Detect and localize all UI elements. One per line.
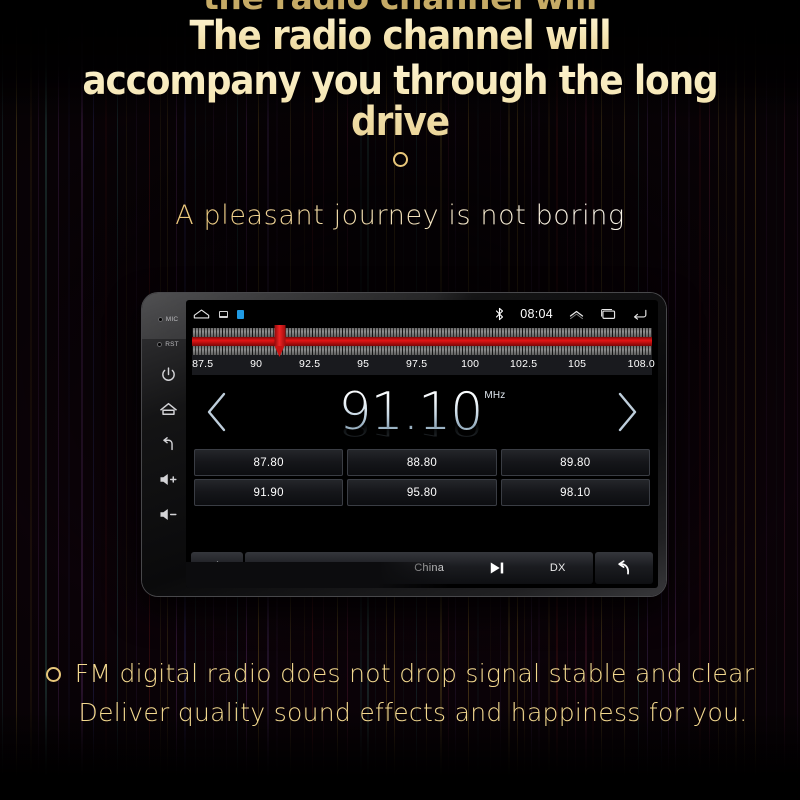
tuner-tick xyxy=(234,328,235,337)
tuner-tick xyxy=(519,346,520,355)
bottom-copy-row-1: FM digital radio does not drop signal st… xyxy=(0,655,800,694)
tuner-scale-label: 108.0 xyxy=(628,358,655,370)
tuner-tick xyxy=(420,328,421,337)
tuner-tick xyxy=(450,346,451,355)
tuner-tick xyxy=(456,328,457,337)
tuner-tick xyxy=(318,346,319,355)
tuner-tick xyxy=(330,346,331,355)
tuner-tick xyxy=(624,328,625,337)
tuner-tick xyxy=(261,328,262,337)
tuner-tick xyxy=(489,328,490,337)
tuner-tick xyxy=(570,328,571,337)
home-button[interactable] xyxy=(150,392,186,427)
screen-bottom-toolbar: Search China DX xyxy=(186,552,658,588)
tuner-tick xyxy=(543,346,544,355)
tuner-tick xyxy=(585,328,586,337)
tuner-tick xyxy=(534,346,535,355)
next-station-button[interactable] xyxy=(489,561,505,575)
toolbar-center-group: Search China DX xyxy=(245,552,593,584)
tuner-tick xyxy=(414,346,415,355)
tuner-tick xyxy=(234,346,235,355)
tuner-tick xyxy=(390,328,391,337)
tuner-tick xyxy=(225,346,226,355)
tuner-tick xyxy=(432,328,433,337)
tuner-tick xyxy=(552,328,553,337)
tuner-tick xyxy=(441,328,442,337)
tuner-tick xyxy=(363,328,364,337)
tuner-tick xyxy=(207,346,208,355)
tuner-tick xyxy=(327,346,328,355)
tuner-tick xyxy=(534,328,535,337)
tuner-tick xyxy=(627,346,628,355)
tuner-tick xyxy=(438,328,439,337)
tuner-tick xyxy=(528,346,529,355)
tuner-tick xyxy=(345,328,346,337)
preset-button[interactable]: 91.90 xyxy=(194,479,343,506)
prev-station-button[interactable] xyxy=(353,561,369,575)
tuner-tick xyxy=(249,328,250,337)
tuner-tick xyxy=(555,328,556,337)
circle-outline-icon xyxy=(393,152,408,167)
tuner-tick xyxy=(417,346,418,355)
tuner-tick xyxy=(453,328,454,337)
tuner-tick xyxy=(267,346,268,355)
subtitle-text: A pleasant journey is not boring xyxy=(0,200,800,231)
tuner-tick xyxy=(372,328,373,337)
tuner-tick xyxy=(324,328,325,337)
tuner-tick xyxy=(498,346,499,355)
tuner-tick xyxy=(645,346,646,355)
tuner-scale-label: 95 xyxy=(357,358,369,370)
tuner-tick xyxy=(300,328,301,337)
tuner-tick xyxy=(480,346,481,355)
tuner-tick xyxy=(474,346,475,355)
tuner-tick xyxy=(624,346,625,355)
tuner-tick xyxy=(480,328,481,337)
tuner-tick xyxy=(495,346,496,355)
needle-bar xyxy=(274,325,285,346)
tuner-tick xyxy=(213,346,214,355)
tuner-tick xyxy=(228,328,229,337)
tuner-tick xyxy=(651,328,652,337)
tuner-scale-labels: 87.59092.59597.5100102.5105108.0 xyxy=(192,355,652,375)
tuner-tick xyxy=(378,346,379,355)
tuner-tick xyxy=(564,346,565,355)
tuner-tick xyxy=(384,328,385,337)
back-arrow-icon xyxy=(160,436,177,453)
skip-previous-icon xyxy=(353,561,369,575)
tuner-tick xyxy=(396,346,397,355)
tuner-tick xyxy=(549,346,550,355)
tuner-tick xyxy=(558,328,559,337)
tuner-tick xyxy=(195,346,196,355)
tuner-tick xyxy=(255,328,256,337)
toolbar-return-button[interactable] xyxy=(595,552,653,584)
tuner-tick xyxy=(468,346,469,355)
tuner-tick xyxy=(333,328,334,337)
preset-button[interactable]: 88.80 xyxy=(347,449,496,476)
tuner-scale-label: 90 xyxy=(250,358,262,370)
tuner-tick xyxy=(396,328,397,337)
tuner-tick xyxy=(465,328,466,337)
tuner-tick xyxy=(633,346,634,355)
tuner-tick xyxy=(429,346,430,355)
home-outline-icon[interactable] xyxy=(193,308,210,320)
back-arrow-icon[interactable] xyxy=(632,308,648,320)
tuner-tick xyxy=(588,328,589,337)
tuner-tick xyxy=(204,328,205,337)
power-icon xyxy=(160,366,177,383)
tuner-tick xyxy=(447,328,448,337)
tuner-tick xyxy=(216,346,217,355)
tuner-tick xyxy=(570,346,571,355)
tuner-tick xyxy=(354,328,355,337)
tuner-tick xyxy=(375,346,376,355)
tuner-tick xyxy=(369,328,370,337)
tuner-tick xyxy=(507,328,508,337)
tuner-tick xyxy=(486,328,487,337)
tuner-tick xyxy=(426,346,427,355)
tuner-tick xyxy=(411,346,412,355)
tuner-scale-label: 92.5 xyxy=(299,358,320,370)
tuner-tick xyxy=(447,346,448,355)
tuner-tick xyxy=(321,328,322,337)
tuner-tick xyxy=(336,328,337,337)
tuner-tick xyxy=(450,328,451,337)
tuner-tick xyxy=(291,328,292,337)
tuner-tick xyxy=(648,328,649,337)
tuner-tick xyxy=(537,328,538,337)
tuner-tick xyxy=(246,328,247,337)
tuner-tick xyxy=(231,346,232,355)
headline-line-2: accompany you through the long drive xyxy=(40,61,760,143)
tuner-tick xyxy=(594,328,595,337)
tuner-tick xyxy=(375,328,376,337)
region-button[interactable]: China xyxy=(414,562,444,574)
home-filled-icon xyxy=(209,560,226,576)
tuner-tick xyxy=(204,346,205,355)
power-button[interactable] xyxy=(150,357,186,392)
tuner-tick xyxy=(582,346,583,355)
tuner-tick xyxy=(636,346,637,355)
tuner-tick xyxy=(435,346,436,355)
device-left-bezel: MIC RST xyxy=(150,300,186,588)
bluetooth-icon xyxy=(495,307,504,321)
android-status-bar: 08:04 xyxy=(186,300,658,328)
tuner-tick xyxy=(507,346,508,355)
tuner-tick xyxy=(471,346,472,355)
tuner-tick xyxy=(393,346,394,355)
tuner-scale-label: 102.5 xyxy=(510,358,537,370)
tuner-tick xyxy=(252,346,253,355)
tuner-red-band xyxy=(192,337,652,346)
tuner-tick xyxy=(615,328,616,337)
mic-indicator: MIC xyxy=(150,307,186,332)
preset-button[interactable]: 89.80 xyxy=(501,449,650,476)
tuner-tick xyxy=(492,328,493,337)
tuner-tick xyxy=(612,328,613,337)
tuner-tick xyxy=(564,328,565,337)
home-icon xyxy=(159,401,178,418)
tuner-tick xyxy=(288,346,289,355)
tuner-tick xyxy=(201,328,202,337)
tuner-tick xyxy=(408,328,409,337)
preset-grid: 87.8088.8089.8091.9095.8098.10 xyxy=(186,449,658,506)
tuner-tick xyxy=(537,346,538,355)
tuner-tick xyxy=(504,346,505,355)
tuner-tick xyxy=(600,346,601,355)
tuner-tick xyxy=(648,346,649,355)
tuner-tick xyxy=(612,346,613,355)
tuner-tick xyxy=(531,346,532,355)
tuner-tick xyxy=(483,346,484,355)
tuner-tick xyxy=(327,328,328,337)
preset-button[interactable]: 87.80 xyxy=(194,449,343,476)
tuner-tick xyxy=(318,328,319,337)
reset-hole-icon[interactable] xyxy=(157,342,162,347)
tuner-tick xyxy=(246,346,247,355)
tuner-tick xyxy=(462,346,463,355)
tuner-ticks-bottom xyxy=(192,346,652,355)
skip-next-icon xyxy=(489,561,505,575)
tuner-tick xyxy=(192,346,193,355)
tuner-tick xyxy=(360,328,361,337)
tuner-tick xyxy=(525,328,526,337)
tuner-tick xyxy=(651,346,652,355)
tuner-tick xyxy=(459,328,460,337)
tuner-tick xyxy=(225,328,226,337)
tuner-tick xyxy=(294,328,295,337)
page-headline: The radio channel will accompany you thr… xyxy=(0,16,800,142)
tuner-tick xyxy=(351,328,352,337)
tuner-tick xyxy=(444,328,445,337)
reset-indicator[interactable]: RST xyxy=(150,332,186,357)
tuner-tick xyxy=(435,328,436,337)
tuner-tick xyxy=(345,346,346,355)
tuner-tick xyxy=(417,328,418,337)
tuner-tick xyxy=(492,346,493,355)
tuner-tick xyxy=(405,346,406,355)
blue-app-icon[interactable] xyxy=(237,310,244,319)
tuner-tick xyxy=(399,346,400,355)
tuner-ticks-top xyxy=(192,328,652,337)
tuner-tick xyxy=(270,328,271,337)
volume-up-icon xyxy=(159,472,178,487)
tuner-tick xyxy=(540,328,541,337)
tuner-tick xyxy=(216,328,217,337)
tuner-tick xyxy=(324,346,325,355)
tuner-tick xyxy=(399,328,400,337)
volume-down-button[interactable] xyxy=(150,497,186,532)
preset-label: 91.90 xyxy=(254,487,284,499)
tuner-tick xyxy=(477,328,478,337)
chevron-right-icon[interactable] xyxy=(612,389,642,435)
tuner-tick xyxy=(303,346,304,355)
device-screen[interactable]: 08:04 87.59092.59597.5100102.5 xyxy=(186,300,658,588)
tuner-tick xyxy=(501,328,502,337)
tuner-tick xyxy=(531,328,532,337)
tuner-tick xyxy=(639,328,640,337)
tuner-tick xyxy=(357,328,358,337)
tuner-tick xyxy=(255,346,256,355)
back-button[interactable] xyxy=(150,427,186,462)
circle-outline-icon xyxy=(46,667,61,682)
tuner-tick xyxy=(618,328,619,337)
tuner-tick xyxy=(336,346,337,355)
tuner-tick xyxy=(414,328,415,337)
tuner-tick xyxy=(444,346,445,355)
tuner-tick xyxy=(555,346,556,355)
tuner-tick xyxy=(453,346,454,355)
tuner-tick xyxy=(441,346,442,355)
status-bar-left xyxy=(193,308,244,320)
tuner-tick xyxy=(549,328,550,337)
tuner-tick xyxy=(243,346,244,355)
bottom-copy-line-2: Deliver quality sound effects and happin… xyxy=(0,694,800,733)
preset-button[interactable]: 98.10 xyxy=(501,479,650,506)
tuner-tick xyxy=(270,346,271,355)
tuner-tick xyxy=(582,328,583,337)
tuner-tick xyxy=(636,328,637,337)
tuner-tick xyxy=(192,328,193,337)
tuner-tick xyxy=(393,328,394,337)
tuner-needle[interactable] xyxy=(274,325,285,358)
tuner-tick xyxy=(567,346,568,355)
tuner-tick xyxy=(309,328,310,337)
tuner-tick xyxy=(558,346,559,355)
tuner-tick xyxy=(339,328,340,337)
toolbar-home-button[interactable] xyxy=(191,552,243,584)
tuner-tick xyxy=(573,328,574,337)
tuner-tick xyxy=(495,328,496,337)
recent-apps-icon[interactable] xyxy=(600,308,616,320)
tuner-tick xyxy=(420,346,421,355)
mic-label: MIC xyxy=(166,316,179,323)
tuner-tick xyxy=(516,328,517,337)
tuner-scale-label: 105 xyxy=(568,358,586,370)
tuner-tick xyxy=(471,328,472,337)
tuner-tick xyxy=(228,346,229,355)
tuner-tick xyxy=(312,328,313,337)
mini-screen-icon[interactable] xyxy=(219,311,228,318)
tuner-tick xyxy=(609,346,610,355)
tuner-tick xyxy=(594,346,595,355)
tuner-tick xyxy=(360,346,361,355)
tuner-tick xyxy=(315,346,316,355)
tuner-tick xyxy=(294,346,295,355)
headline-line-1: The radio channel will xyxy=(40,16,760,57)
dx-button[interactable]: DX xyxy=(550,562,566,574)
tuner-tick xyxy=(321,346,322,355)
tuner-tick xyxy=(243,328,244,337)
tuner-tick xyxy=(597,346,598,355)
tuner-tick xyxy=(306,346,307,355)
tuner-tick xyxy=(330,328,331,337)
tuner-tick xyxy=(561,346,562,355)
tuner-tick xyxy=(621,328,622,337)
tuner-tick xyxy=(315,328,316,337)
tuner-tick xyxy=(198,346,199,355)
tuner-tick xyxy=(210,346,211,355)
fm-tuning-scale[interactable]: 87.59092.59597.5100102.5105108.0 xyxy=(192,328,652,375)
tuner-tick xyxy=(402,328,403,337)
tuner-tick xyxy=(258,328,259,337)
tuner-tick xyxy=(312,346,313,355)
tuner-tick xyxy=(207,328,208,337)
tuner-scale-label: 97.5 xyxy=(406,358,427,370)
preset-button[interactable]: 95.80 xyxy=(347,479,496,506)
tuner-tick xyxy=(213,328,214,337)
preset-label: 98.10 xyxy=(560,487,590,499)
tuner-tick xyxy=(387,346,388,355)
volume-up-button[interactable] xyxy=(150,462,186,497)
tuner-tick xyxy=(381,346,382,355)
tuner-tick xyxy=(390,346,391,355)
tuner-tick xyxy=(252,328,253,337)
tuner-tick xyxy=(618,346,619,355)
tuner-tick xyxy=(372,346,373,355)
tuner-tick xyxy=(342,328,343,337)
tuner-tick xyxy=(303,328,304,337)
preset-label: 95.80 xyxy=(407,487,437,499)
tuner-tick xyxy=(489,346,490,355)
chevron-left-icon[interactable] xyxy=(202,389,232,435)
tuner-tick xyxy=(411,328,412,337)
tuner-tick xyxy=(249,346,250,355)
tuner-tick xyxy=(423,346,424,355)
tuner-tick xyxy=(354,346,355,355)
tuner-tick xyxy=(573,346,574,355)
tuner-tick xyxy=(219,346,220,355)
tuner-tick xyxy=(546,328,547,337)
chevron-up-icon[interactable] xyxy=(569,309,584,320)
tuner-tick xyxy=(579,346,580,355)
tuner-tick xyxy=(498,328,499,337)
tuner-tick xyxy=(615,346,616,355)
tuner-tick xyxy=(267,328,268,337)
tuner-tick xyxy=(306,328,307,337)
tuner-tick xyxy=(366,328,367,337)
tuner-tick xyxy=(258,346,259,355)
car-stereo-device: MIC RST xyxy=(142,293,666,596)
tuner-tick xyxy=(597,328,598,337)
tuner-tick xyxy=(504,328,505,337)
tuner-tick xyxy=(630,346,631,355)
frequency-value-box: 91.10 MHz 91.10 xyxy=(338,386,505,438)
mic-hole-icon xyxy=(158,317,163,322)
tuner-tick xyxy=(546,346,547,355)
rst-label: RST xyxy=(165,341,179,348)
tuner-tick xyxy=(525,346,526,355)
tuner-tick xyxy=(456,346,457,355)
tuner-tick xyxy=(363,346,364,355)
tuner-tick xyxy=(477,346,478,355)
tuner-tick xyxy=(222,328,223,337)
frequency-display-row: 91.10 MHz 91.10 xyxy=(186,375,658,449)
tuner-tick xyxy=(540,346,541,355)
tuner-tick xyxy=(627,328,628,337)
tuner-tick xyxy=(369,346,370,355)
tuner-tick xyxy=(384,346,385,355)
tuner-tick xyxy=(519,328,520,337)
search-button[interactable]: Search xyxy=(272,562,308,574)
tuner-tick xyxy=(264,328,265,337)
tuner-tick xyxy=(198,328,199,337)
tuner-tick xyxy=(639,346,640,355)
tuner-tick xyxy=(201,346,202,355)
tuner-tick xyxy=(342,346,343,355)
tuner-tick xyxy=(381,328,382,337)
